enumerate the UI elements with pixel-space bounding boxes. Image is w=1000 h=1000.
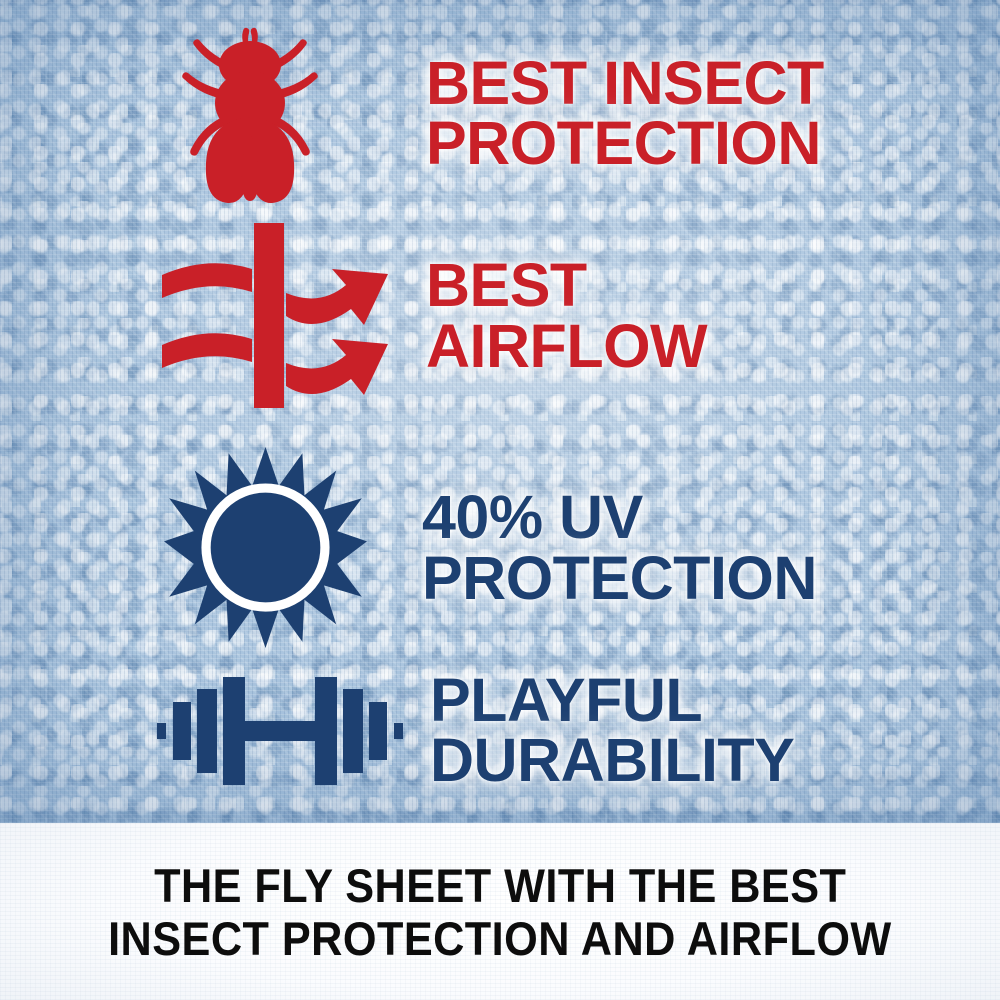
feature-row-uv-protection: 40% UV PROTECTION [150, 440, 990, 655]
feature-row-airflow: BEST AIRFLOW [150, 218, 990, 413]
feature-label-uv-protection: 40% UV PROTECTION [422, 487, 817, 608]
feature-row-durability: PLAYFUL DURABILITY [150, 650, 990, 810]
product-feature-infographic: BEST INSECT PROTECTION BEST AIRFLO [0, 0, 1000, 1000]
airflow-arrows-icon [150, 218, 390, 413]
fly-icon [150, 21, 350, 206]
feature-label-durability: PLAYFUL DURABILITY [430, 670, 794, 791]
caption-band: THE FLY SHEET WITH THE BEST INSECT PROTE… [0, 823, 1000, 1000]
sun-icon [150, 440, 380, 655]
feature-label-airflow: BEST AIRFLOW [426, 255, 707, 376]
caption-line-2: INSECT PROTECTION AND AIRFLOW [108, 912, 892, 965]
caption-line-1: THE FLY SHEET WITH THE BEST [154, 859, 846, 912]
feature-row-insect-protection: BEST INSECT PROTECTION [150, 18, 990, 208]
dumbbell-icon [150, 655, 410, 805]
feature-label-insect-protection: BEST INSECT PROTECTION [426, 53, 824, 174]
